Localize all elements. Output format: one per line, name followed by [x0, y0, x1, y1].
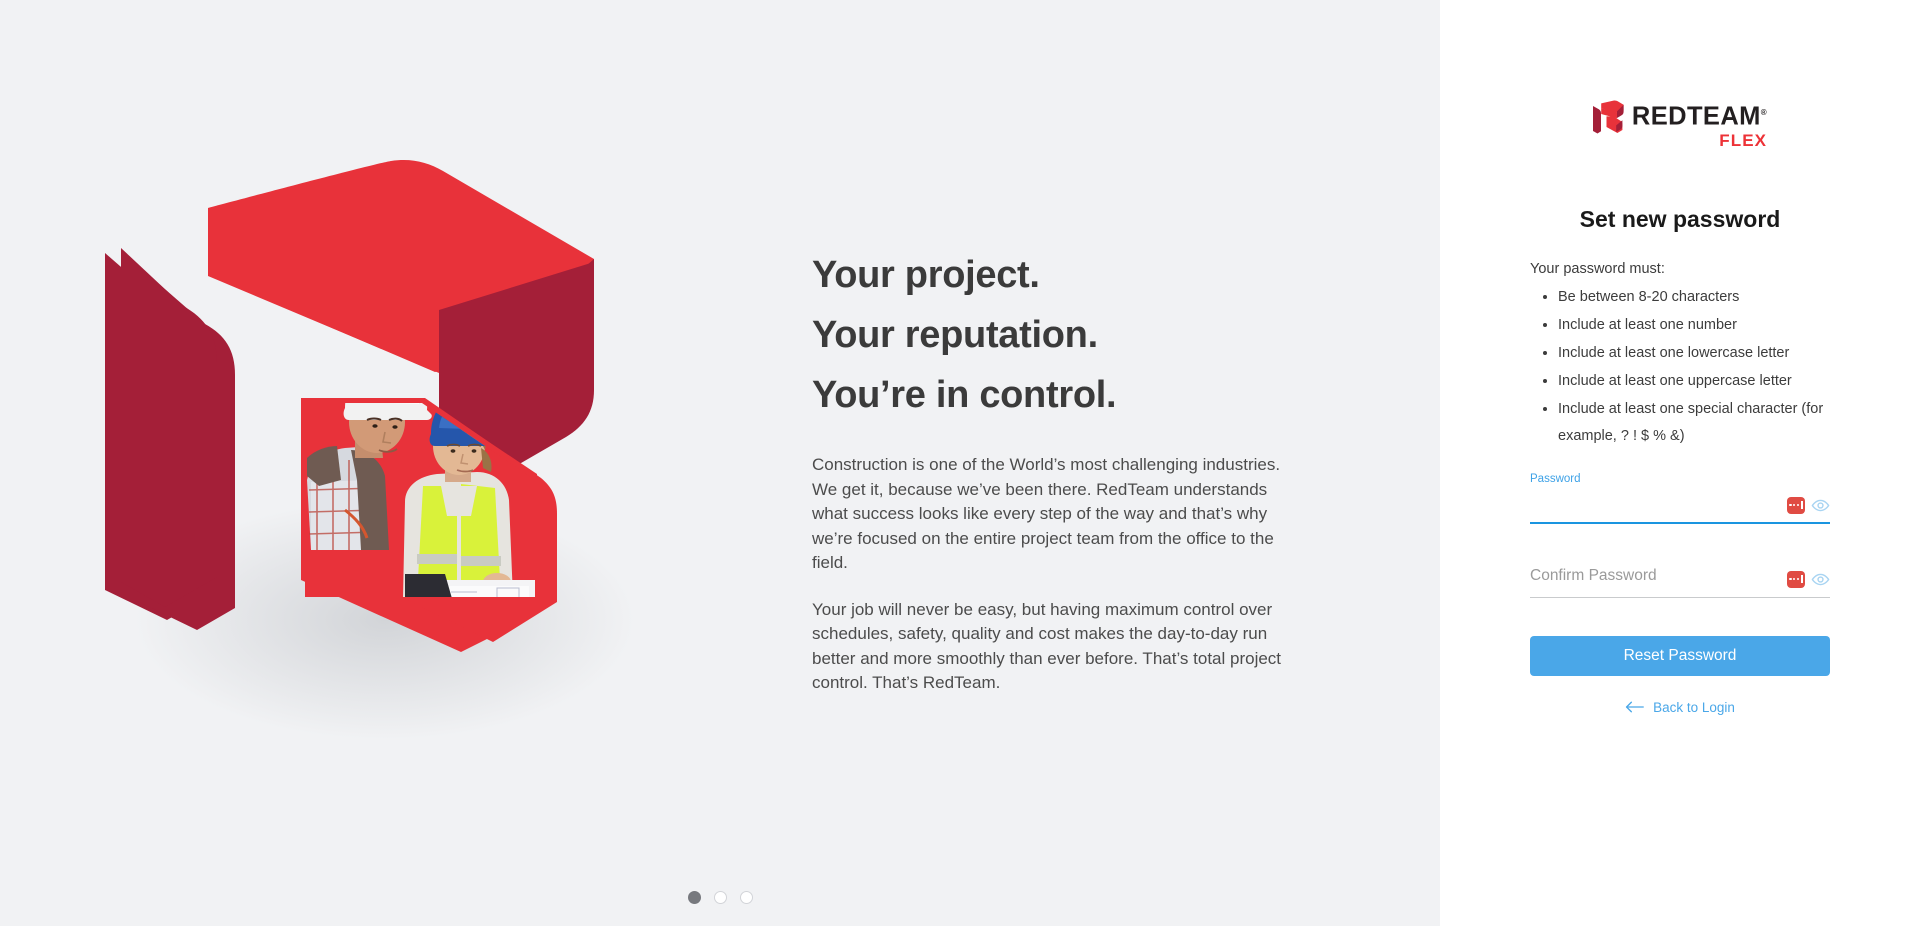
- logo-word-redteam: REDTEAM®: [1632, 100, 1767, 130]
- redteam-isometric-r-hero-graphic: [105, 150, 665, 770]
- registered-mark: ®: [1761, 108, 1767, 117]
- login-page: Your project. Your reputation. You’re in…: [0, 0, 1920, 926]
- confirm-password-input[interactable]: [1530, 560, 1830, 598]
- auth-form: REDTEAM® FLEX Set new password Your pass…: [1530, 100, 1830, 715]
- carousel-dot-2[interactable]: [714, 891, 727, 904]
- reset-password-button[interactable]: Reset Password: [1530, 636, 1830, 676]
- headline-line-1: Your project.: [812, 245, 1282, 305]
- marketing-panel: Your project. Your reputation. You’re in…: [0, 0, 1440, 926]
- password-field-group: Password: [1530, 478, 1830, 524]
- auth-title: Set new password: [1530, 206, 1830, 233]
- confirm-password-field-icons: [1787, 570, 1830, 589]
- eye-icon[interactable]: [1811, 496, 1830, 515]
- marketing-paragraph-1: Construction is one of the World’s most …: [812, 453, 1282, 576]
- password-field-icons: [1787, 496, 1830, 515]
- arrow-left-icon: [1625, 701, 1644, 713]
- headline-line-2: Your reputation.: [812, 305, 1282, 365]
- logo-wordmark: REDTEAM® FLEX: [1632, 100, 1767, 150]
- password-label: Password: [1530, 472, 1581, 486]
- password-input[interactable]: [1530, 490, 1830, 524]
- headline-line-3: You’re in control.: [812, 365, 1282, 425]
- back-to-login-label: Back to Login: [1653, 700, 1735, 715]
- logo-word-flex: FLEX: [1719, 132, 1767, 150]
- redteam-r-mark-icon: [1593, 100, 1624, 137]
- redteam-flex-logo: REDTEAM® FLEX: [1530, 100, 1830, 150]
- carousel-dot-3[interactable]: [740, 891, 753, 904]
- eye-icon[interactable]: [1811, 570, 1830, 589]
- password-manager-badge-icon[interactable]: [1787, 497, 1805, 514]
- back-to-login-link[interactable]: Back to Login: [1530, 700, 1830, 715]
- requirement-item: Include at least one uppercase letter: [1558, 367, 1830, 395]
- requirement-item: Include at least one lowercase letter: [1558, 339, 1830, 367]
- password-requirements-list: Be between 8-20 characters Include at le…: [1530, 283, 1830, 450]
- requirement-item: Be between 8-20 characters: [1558, 283, 1830, 311]
- confirm-password-field-group: [1530, 552, 1830, 598]
- requirement-item: Include at least one number: [1558, 311, 1830, 339]
- requirement-item: Include at least one special character (…: [1558, 395, 1830, 450]
- auth-panel: REDTEAM® FLEX Set new password Your pass…: [1440, 0, 1920, 926]
- marketing-paragraph-2: Your job will never be easy, but having …: [812, 598, 1282, 696]
- marketing-copy: Your project. Your reputation. You’re in…: [812, 245, 1282, 696]
- carousel-indicator[interactable]: [0, 891, 1440, 904]
- carousel-dot-1[interactable]: [688, 891, 701, 904]
- password-manager-badge-icon[interactable]: [1787, 571, 1805, 588]
- page-title: Your project. Your reputation. You’re in…: [812, 245, 1282, 425]
- password-requirements-intro: Your password must:: [1530, 261, 1830, 277]
